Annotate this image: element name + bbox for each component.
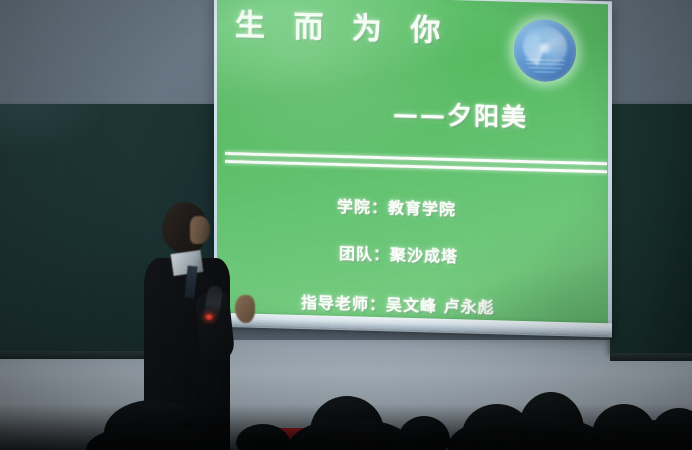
slide-subtitle: ——夕阳美 [393,94,528,134]
presenter-face [190,216,210,244]
blackboard-right [610,104,692,354]
audience [0,356,692,450]
presentation-photo-scene: 生 而 为 你 ——夕阳美 学院：教育学院 团队：聚沙成塔 指导老师：吴文峰 卢… [0,0,692,450]
audience-head [398,416,450,450]
emblem-waves-icon [525,59,565,73]
presenter-gesturing-hand [235,295,255,323]
slide-title: 生 而 为 你 [235,0,449,50]
microphone-led-indicator [205,314,213,320]
university-emblem-icon [514,19,576,83]
slide-info-advisors: 指导老师：吴文峰 卢永彪 [301,289,495,318]
slide-info-college: 学院：教育学院 [337,193,456,220]
slide-info-team: 团队：聚沙成塔 [339,240,458,267]
audience-shoulders [288,420,414,450]
projection-screen: 生 而 为 你 ——夕阳美 学院：教育学院 团队：聚沙成塔 指导老师：吴文峰 卢… [214,0,612,337]
presentation-slide: 生 而 为 你 ——夕阳美 学院：教育学院 团队：聚沙成塔 指导老师：吴文峰 卢… [217,0,608,330]
emblem-core-icon [537,41,552,54]
